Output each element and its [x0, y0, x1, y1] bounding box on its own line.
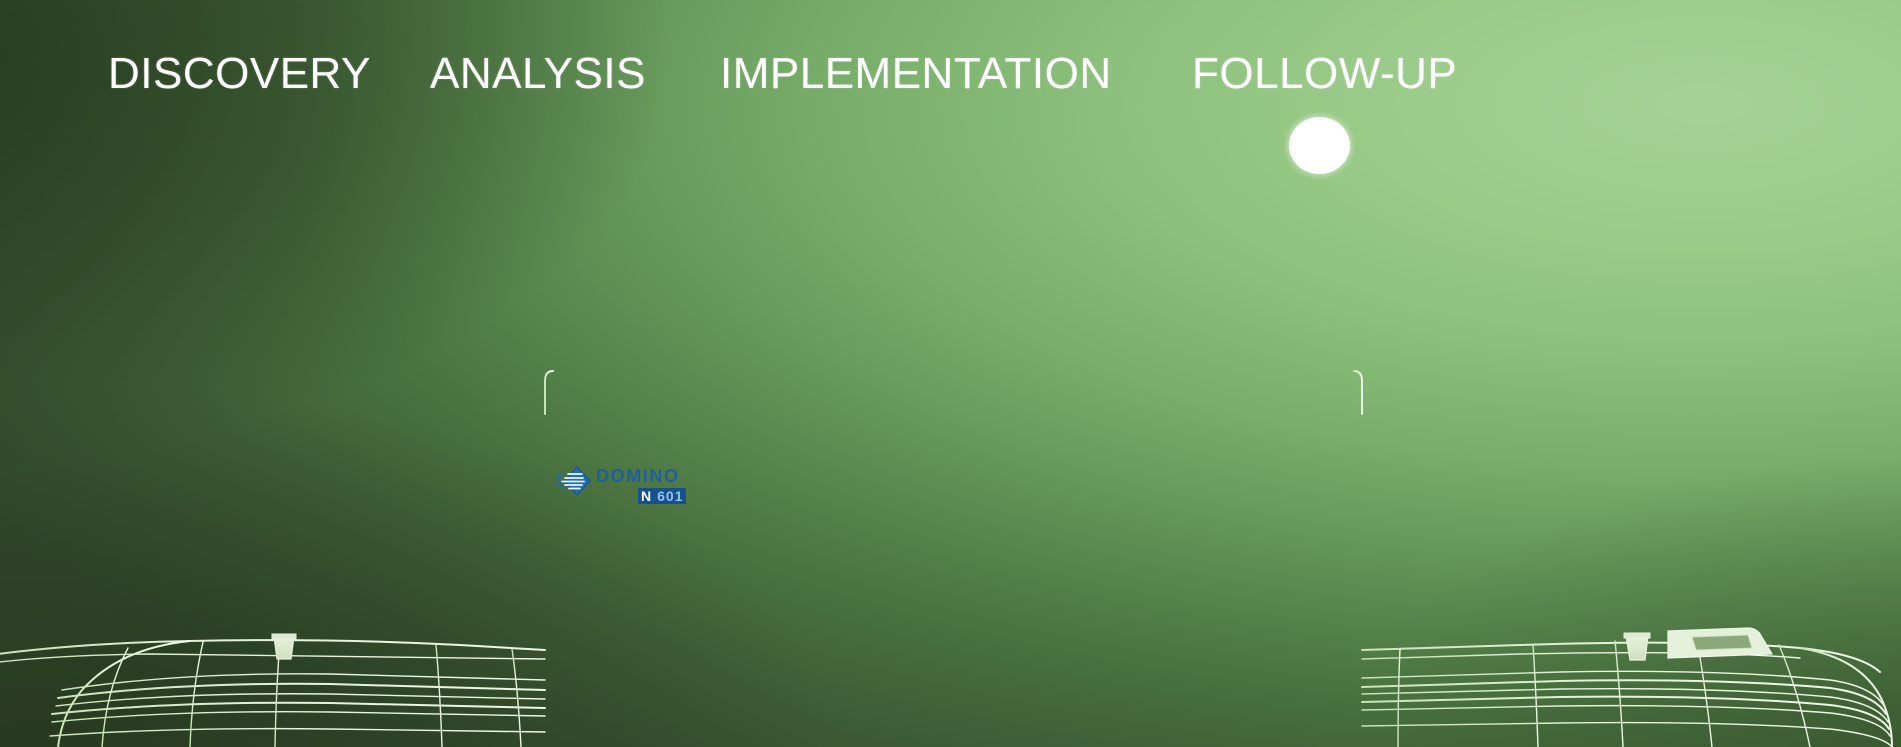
domino-diamond-icon: [556, 465, 592, 497]
slide-canvas: DOMINO N 601 DISCOVERY ANALYSIS IMPLEMEN…: [0, 0, 1901, 747]
brand-wordmark: DOMINO: [596, 467, 680, 485]
right-conveyor-wireframe: [1362, 628, 1892, 747]
model-number: 601: [654, 488, 686, 504]
nav-item-implementation[interactable]: IMPLEMENTATION: [720, 52, 1112, 96]
cabinet-outline: [545, 371, 1362, 747]
brand-logo: DOMINO N 601: [556, 463, 696, 515]
active-step-indicator-dot: [1289, 117, 1350, 174]
brand-model-badge: N 601: [638, 488, 686, 504]
cabinet-panel-dividers: [745, 371, 1157, 747]
nav-item-discovery[interactable]: DISCOVERY: [108, 52, 371, 96]
left-conveyor-wireframe: [0, 640, 545, 747]
nav-item-analysis[interactable]: ANALYSIS: [430, 52, 646, 96]
model-prefix: N: [638, 488, 654, 504]
nav-item-follow-up[interactable]: FOLLOW-UP: [1192, 52, 1457, 96]
process-nav: DISCOVERY ANALYSIS IMPLEMENTATION FOLLOW…: [0, 0, 1901, 130]
cabinet-hood-ribs: [545, 379, 1362, 410]
